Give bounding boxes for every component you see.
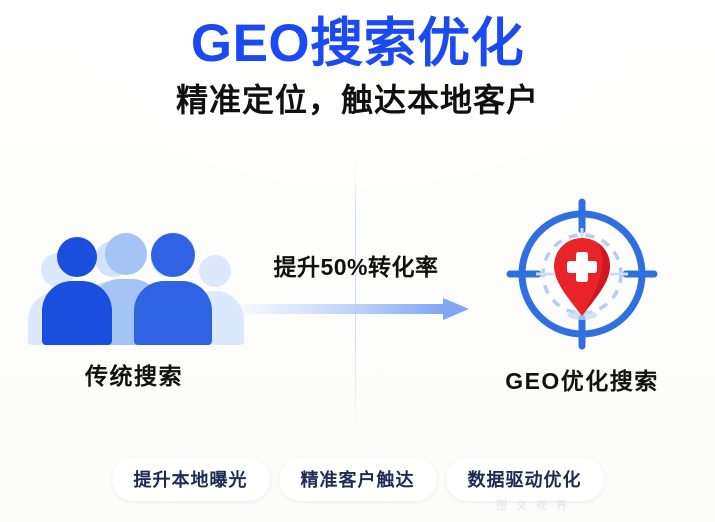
feature-pill-group: 提升本地曝光 精准客户触达 数据驱动优化 (0, 458, 715, 501)
page-title: GEO搜索优化 (0, 0, 715, 71)
target-crosshair-svg (506, 198, 658, 350)
feature-pill-precise-reach[interactable]: 精准客户触达 (279, 458, 437, 501)
right-concept-label: GEO优化搜索 (466, 362, 698, 396)
right-arrow-icon (243, 298, 469, 320)
poster-canvas: GEO搜索优化 精准定位，触达本地客户 (0, 0, 715, 522)
target-location-pin-icon (466, 198, 698, 350)
watermark-text: 图 文 视 界 (496, 497, 570, 513)
person-figure-front-left (42, 237, 112, 345)
middle-transition-block: 提升50%转化率 (232, 248, 480, 320)
people-group-icon (18, 205, 250, 345)
right-concept-block: GEO优化搜索 (466, 198, 698, 396)
person-figure-front-right (134, 233, 212, 345)
conversion-metric-text: 提升50%转化率 (232, 248, 480, 282)
left-concept-label: 传统搜索 (18, 357, 250, 391)
arrow-shaft (243, 304, 443, 314)
feature-pill-local-exposure[interactable]: 提升本地曝光 (112, 458, 270, 501)
poster-header: GEO搜索优化 精准定位，触达本地客户 (0, 0, 715, 120)
feature-pill-data-driven[interactable]: 数据驱动优化 (446, 458, 604, 501)
page-subtitle: 精准定位，触达本地客户 (0, 71, 715, 119)
left-concept-block: 传统搜索 (18, 205, 250, 391)
